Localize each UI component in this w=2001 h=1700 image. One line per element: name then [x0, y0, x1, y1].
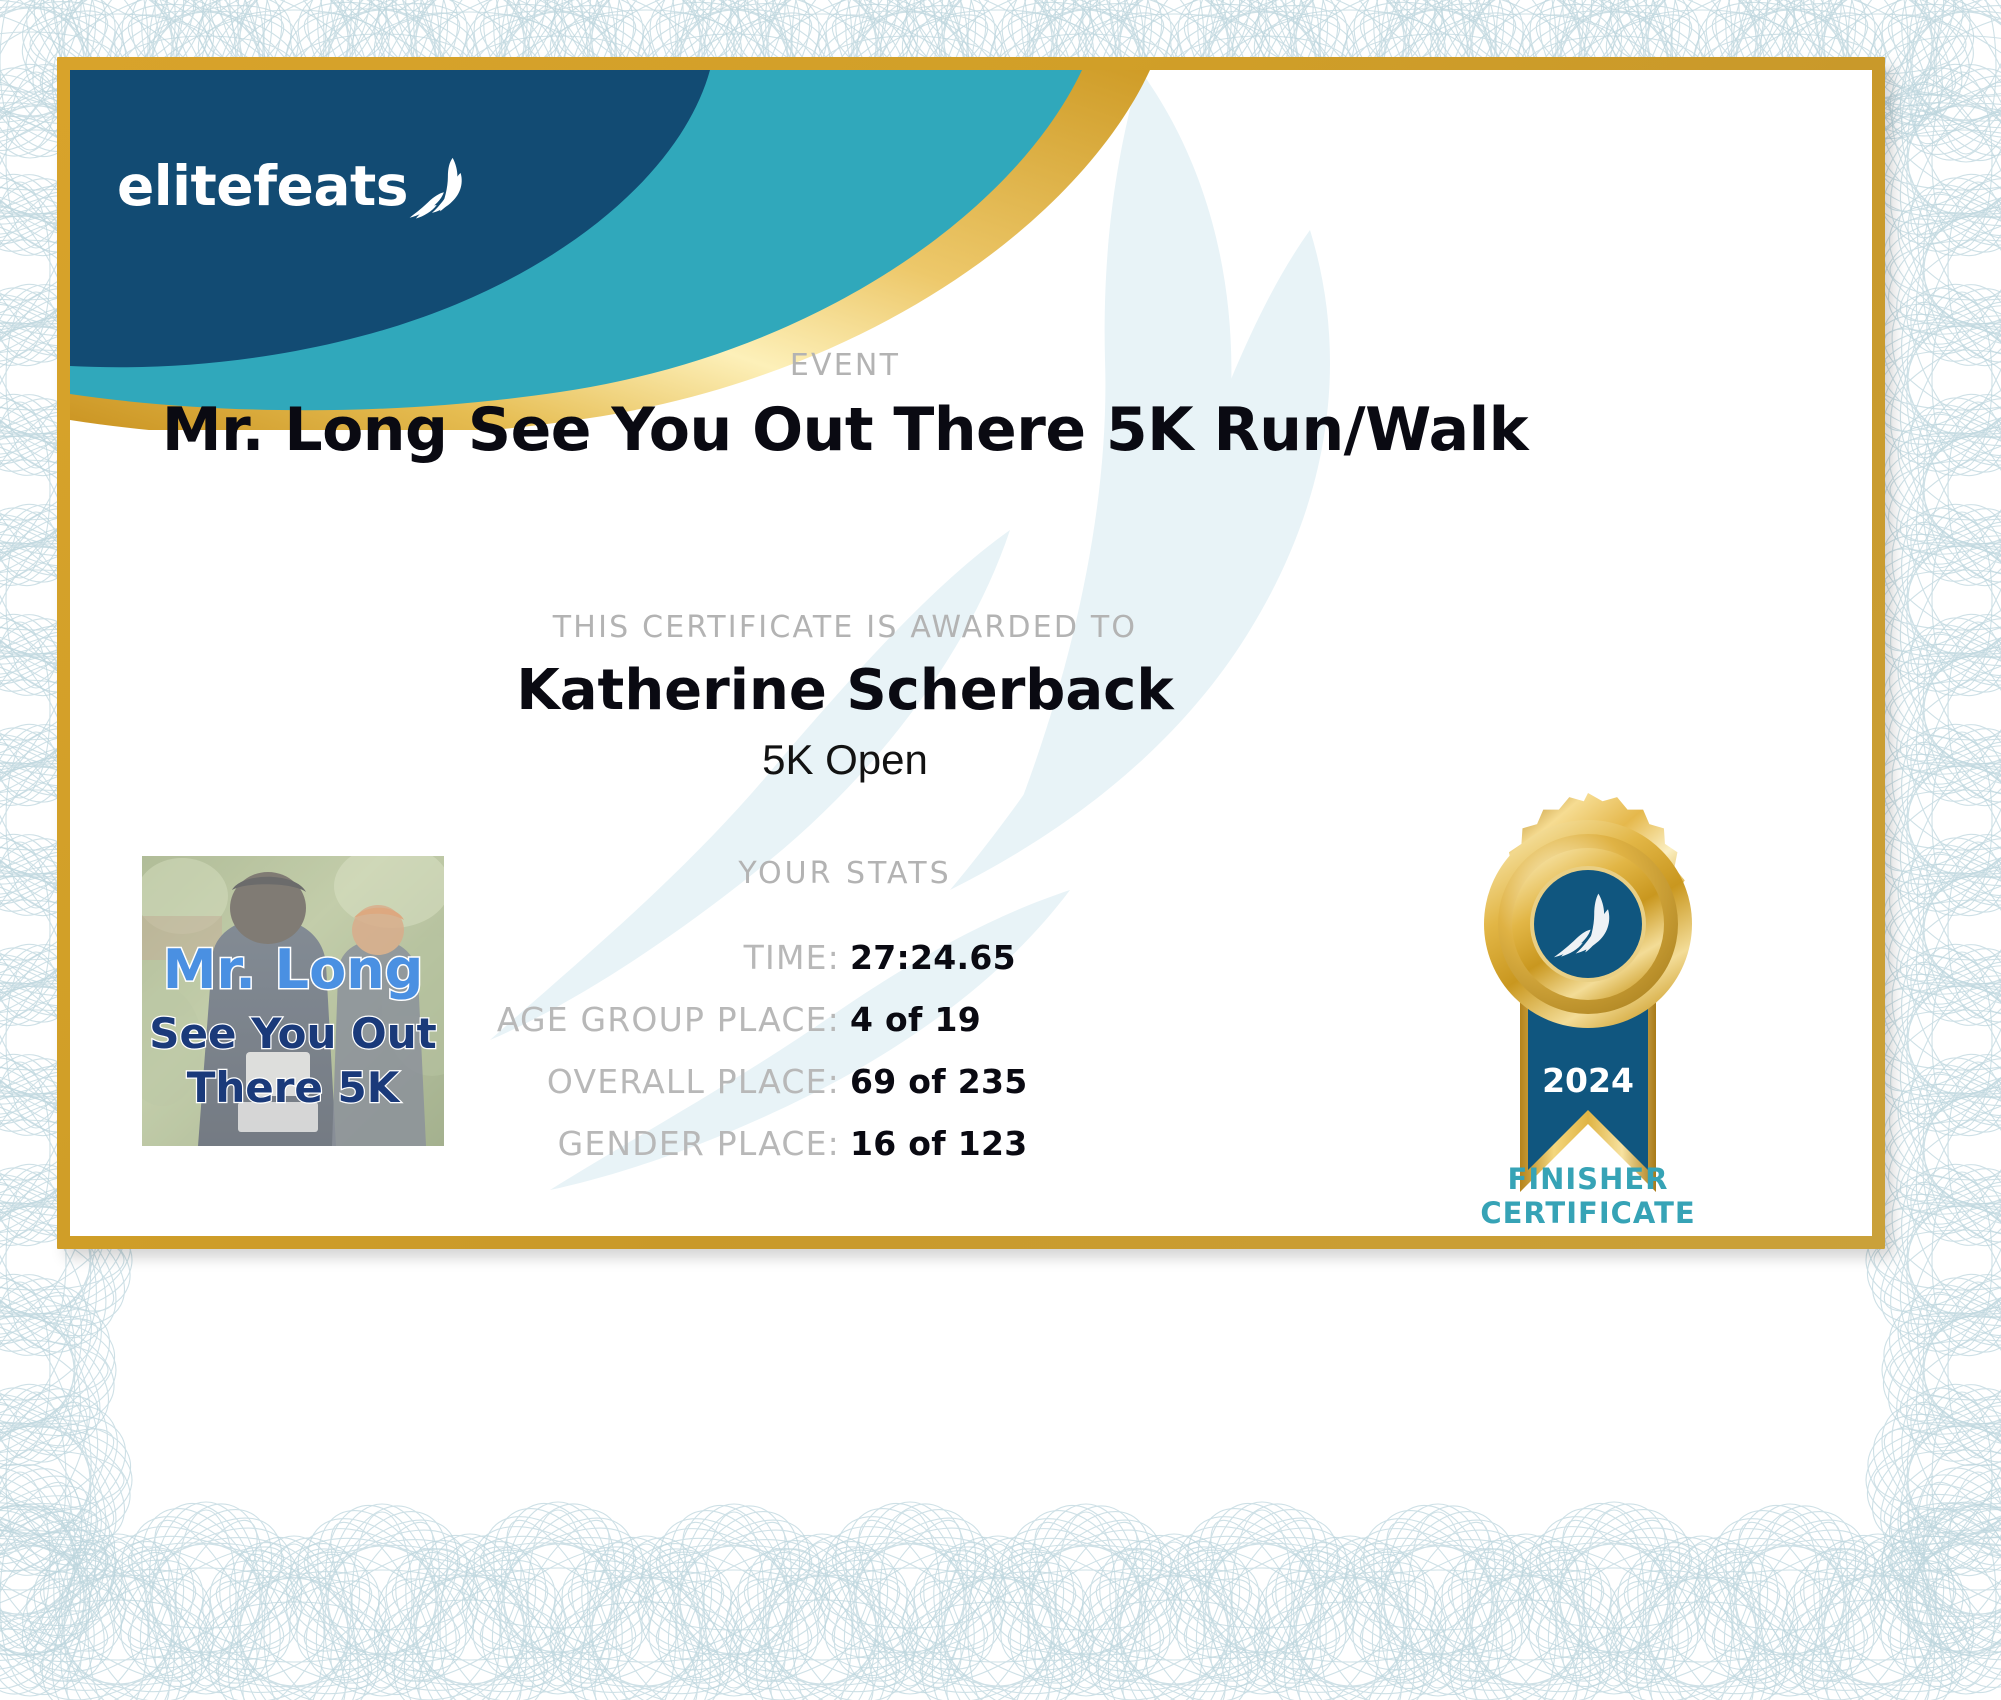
certificate-sheet: elitefeats EVENT Mr. Long See You Out Th… — [70, 70, 1872, 1236]
event-name: Mr. Long See You Out There 5K Run/Walk — [70, 395, 1620, 465]
stat-label-gender-place: GENDER PLACE: — [420, 1124, 840, 1163]
finisher-medal-badge: 2024 — [1458, 792, 1718, 1212]
stat-label-age-group-place: AGE GROUP PLACE: — [420, 1000, 840, 1039]
certificate-page: elitefeats EVENT Mr. Long See You Out Th… — [0, 0, 2001, 1700]
stat-value-time: 27:24.65 — [850, 938, 1270, 977]
event-photo: Mr. Long See You Out There 5K — [142, 856, 444, 1146]
badge-caption-line1: FINISHER — [1400, 1162, 1776, 1196]
recipient-name: Katherine Scherback — [70, 658, 1620, 723]
photo-text-line2: See You Out — [149, 1009, 436, 1058]
badge-year: 2024 — [1542, 1061, 1634, 1100]
badge-caption: FINISHER CERTIFICATE — [1400, 1162, 1776, 1230]
stat-value-overall-place: 69 of 235 — [850, 1062, 1270, 1101]
event-label: EVENT — [70, 348, 1620, 383]
stat-label-time: TIME: — [420, 938, 840, 977]
certificate-gold-frame: elitefeats EVENT Mr. Long See You Out Th… — [57, 57, 1885, 1249]
stat-value-gender-place: 16 of 123 — [850, 1124, 1270, 1163]
division-name: 5K Open — [70, 736, 1620, 784]
stat-label-overall-place: OVERALL PLACE: — [420, 1062, 840, 1101]
photo-text-line3: There 5K — [187, 1063, 401, 1112]
awarded-to-label: THIS CERTIFICATE IS AWARDED TO — [70, 610, 1620, 645]
stat-value-age-group-place: 4 of 19 — [850, 1000, 1270, 1039]
photo-text-line1: Mr. Long — [163, 938, 424, 1001]
certificate-content: EVENT Mr. Long See You Out There 5K Run/… — [70, 70, 1872, 1236]
badge-caption-line2: CERTIFICATE — [1400, 1196, 1776, 1230]
